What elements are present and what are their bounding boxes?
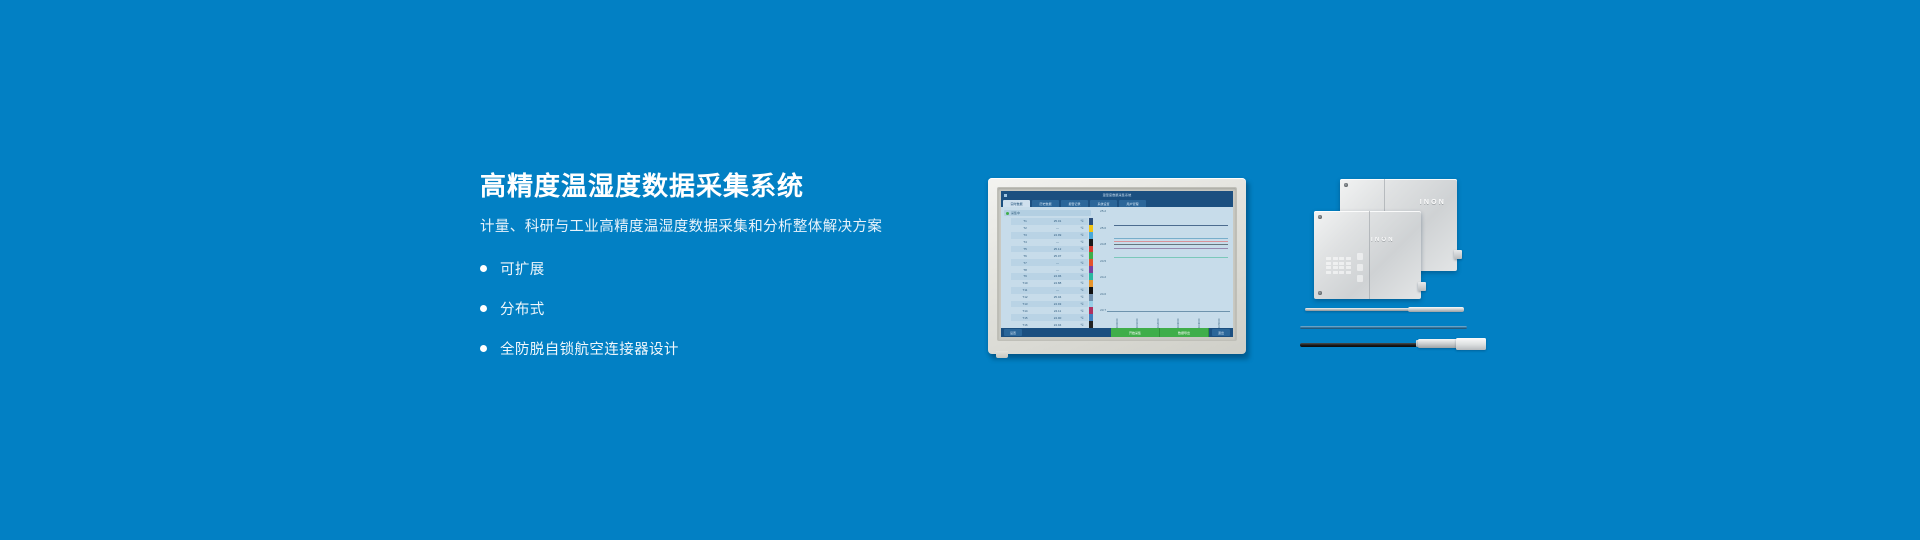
channel-unit: ℃ (1076, 323, 1088, 327)
table-row[interactable]: T924.96℃ (1011, 273, 1088, 280)
blue-sensor-cable (1300, 326, 1467, 329)
channel-unit: ℃ (1076, 254, 1088, 258)
chart-series-line (1114, 238, 1227, 239)
y-tick-label: 24.5 (1095, 259, 1106, 263)
channel-panel: 采集中 T125.01℃T2---℃T324.99℃T4---℃T525.12℃… (1001, 207, 1093, 328)
enclosure-seam (1369, 211, 1370, 299)
channel-unit: ℃ (1076, 274, 1088, 278)
channel-name: T1 (1011, 219, 1039, 223)
channel-name: T16 (1011, 323, 1039, 327)
channel-unit: ℃ (1076, 309, 1088, 313)
channel-name: T5 (1011, 247, 1039, 251)
monitor-bezel: 温湿度数据采集系统 实时数据 历史数据 报警记录 系统设置 用户管理 (988, 178, 1246, 354)
channel-value: --- (1039, 288, 1076, 292)
channel-value: 24.88 (1039, 281, 1076, 285)
x-tick-label: 10:40:00 (1198, 313, 1201, 328)
channel-name: T8 (1011, 268, 1039, 272)
channel-value: 25.07 (1039, 254, 1076, 258)
table-row[interactable]: T324.99℃ (1011, 232, 1088, 239)
settings-button[interactable]: 设置 (1004, 329, 1022, 336)
list-item: 全防脱自锁航空连接器设计 (480, 338, 950, 359)
channel-value: 24.90 (1039, 316, 1076, 320)
bullet-dot-icon (480, 305, 487, 312)
channel-unit: ℃ (1076, 240, 1088, 244)
y-tick-label: 24.0 (1095, 292, 1106, 296)
channel-name: T11 (1011, 288, 1039, 292)
table-row[interactable]: T11---℃ (1011, 287, 1088, 294)
channel-value: 25.04 (1039, 295, 1076, 299)
table-row[interactable]: T1324.93℃ (1011, 301, 1088, 308)
status-badge: 采集中 (1004, 210, 1091, 216)
monitor-device: 温湿度数据采集系统 实时数据 历史数据 报警记录 系统设置 用户管理 (988, 178, 1250, 360)
monitor-inner-frame: 温湿度数据采集系统 实时数据 历史数据 报警记录 系统设置 用户管理 (997, 187, 1237, 341)
feature-label: 分布式 (500, 298, 545, 319)
probe-tip (1408, 307, 1464, 312)
application-screen: 温湿度数据采集系统 实时数据 历史数据 报警记录 系统设置 用户管理 (1001, 191, 1233, 337)
channel-unit: ℃ (1076, 281, 1088, 285)
channel-value: 24.94 (1039, 323, 1076, 327)
page-subtitle: 计量、科研与工业高精度温湿度数据采集和分析整体解决方案 (480, 219, 950, 236)
humidity-sensor-filter-cap (1456, 338, 1486, 350)
channel-value: 24.11 (1039, 309, 1076, 313)
table-row[interactable]: T525.12℃ (1011, 246, 1088, 253)
channel-name: T9 (1011, 274, 1039, 278)
black-sensor-cable (1300, 343, 1420, 347)
channel-unit: ℃ (1076, 226, 1088, 230)
tab-history[interactable]: 历史数据 (1032, 200, 1059, 207)
exit-button[interactable]: 退出 (1212, 329, 1230, 336)
table-row[interactable]: T625.07℃ (1011, 252, 1088, 259)
channel-name: T10 (1011, 281, 1039, 285)
x-tick-label: 10:50:00 (1218, 313, 1221, 328)
humidity-sensor-body (1418, 339, 1460, 348)
channel-value: 24.99 (1039, 233, 1076, 237)
list-item: 可扩展 (480, 258, 950, 279)
app-titlebar: 温湿度数据采集系统 (1001, 191, 1233, 199)
screw-icon (1318, 215, 1322, 219)
tab-bar: 实时数据 历史数据 报警记录 系统设置 用户管理 (1001, 199, 1233, 207)
chart-series-line (1114, 225, 1227, 226)
x-tick-label: 10:20:00 (1157, 313, 1160, 328)
y-tick-label: 24.2 (1095, 275, 1106, 279)
channel-name: T2 (1011, 226, 1039, 230)
status-label: 采集中 (1011, 211, 1020, 215)
copy-block: 高精度温湿度数据采集系统 计量、科研与工业高精度温湿度数据采集和分析整体解决方案… (480, 172, 950, 378)
channel-unit: ℃ (1076, 288, 1088, 292)
export-data-button[interactable]: 数据导出 (1160, 328, 1209, 337)
channel-name: T15 (1011, 316, 1039, 320)
table-row[interactable]: T1624.94℃ (1011, 321, 1088, 328)
y-tick-label: 23.7 (1095, 308, 1106, 312)
indicator-icons (1357, 253, 1363, 282)
list-item: 分布式 (480, 298, 950, 319)
channel-unit: ℃ (1076, 247, 1088, 251)
brand-logo: INON (1371, 237, 1395, 243)
feature-label: 全防脱自锁航空连接器设计 (500, 338, 679, 359)
channel-name: T3 (1011, 233, 1039, 237)
channel-value: --- (1039, 261, 1076, 265)
connector-port (1418, 282, 1426, 291)
channel-unit: ℃ (1076, 219, 1088, 223)
channel-table-rows: T125.01℃T2---℃T324.99℃T4---℃T525.12℃T625… (1001, 218, 1088, 328)
brand-logo: INON (1420, 199, 1446, 206)
y-tick-label: 24.8 (1095, 242, 1106, 246)
feature-label: 可扩展 (500, 258, 545, 279)
bullet-dot-icon (480, 265, 487, 272)
channel-unit: ℃ (1076, 295, 1088, 299)
chart-y-axis: 25.225.024.824.524.224.023.7 (1095, 209, 1106, 312)
channel-unit: ℃ (1076, 316, 1088, 320)
table-row[interactable]: T8---℃ (1011, 266, 1088, 273)
channel-unit: ℃ (1076, 233, 1088, 237)
channel-name: T6 (1011, 254, 1039, 258)
table-row[interactable]: T1225.04℃ (1011, 294, 1088, 301)
chart-series-line (1114, 248, 1227, 249)
table-row[interactable]: T7---℃ (1011, 259, 1088, 266)
app-title: 温湿度数据采集系统 (1001, 191, 1233, 199)
product-banner: 高精度温湿度数据采集系统 计量、科研与工业高精度温湿度数据采集和分析整体解决方案… (0, 0, 1920, 540)
channel-table: T125.01℃T2---℃T324.99℃T4---℃T525.12℃T625… (1001, 218, 1093, 328)
table-row[interactable]: T1524.90℃ (1011, 314, 1088, 321)
start-acquisition-button[interactable]: 开始采集 (1111, 328, 1160, 337)
hardware-group: INON INON (1300, 175, 1500, 360)
channel-value: --- (1039, 240, 1076, 244)
channel-unit: ℃ (1076, 302, 1088, 306)
y-tick-label: 25.0 (1095, 226, 1106, 230)
chart-x-axis: 10:00:0010:10:0010:20:0010:30:0010:40:00… (1107, 313, 1230, 328)
table-row[interactable]: T2---℃ (1011, 225, 1088, 232)
table-row[interactable]: T1424.11℃ (1011, 307, 1088, 314)
channel-value: --- (1039, 226, 1076, 230)
channel-name: T13 (1011, 302, 1039, 306)
app-footer: 设置 开始采集 数据导出 退出 (1001, 328, 1233, 337)
table-row[interactable]: T125.01℃ (1011, 218, 1088, 225)
channel-name: T4 (1011, 240, 1039, 244)
tab-users[interactable]: 用户管理 (1119, 200, 1146, 207)
table-row[interactable]: T1024.88℃ (1011, 280, 1088, 287)
front-enclosure: INON (1314, 211, 1421, 299)
channel-value: 25.01 (1039, 219, 1076, 223)
channel-value: 24.96 (1039, 274, 1076, 278)
feature-list: 可扩展 分布式 全防脱自锁航空连接器设计 (480, 258, 950, 359)
channel-value: 25.12 (1039, 247, 1076, 251)
channel-unit: ℃ (1076, 261, 1088, 265)
chart-series-line (1114, 257, 1227, 258)
page-title: 高精度温湿度数据采集系统 (480, 172, 950, 201)
chart-series-line (1114, 244, 1227, 245)
bullet-dot-icon (480, 345, 487, 352)
chart-series-line (1114, 241, 1227, 242)
label-plate (1326, 257, 1351, 274)
tab-realtime[interactable]: 实时数据 (1003, 200, 1030, 207)
trend-chart: 25.225.024.824.524.224.023.7 10:00:0010:… (1093, 207, 1233, 328)
channel-name: T14 (1011, 309, 1039, 313)
monitor-stand (996, 351, 1008, 358)
status-led-icon (1006, 212, 1009, 215)
table-row[interactable]: T4---℃ (1011, 239, 1088, 246)
channel-unit: ℃ (1076, 268, 1088, 272)
channel-name: T7 (1011, 261, 1039, 265)
app-body: 采集中 T125.01℃T2---℃T324.99℃T4---℃T525.12℃… (1001, 207, 1233, 328)
screw-icon (1344, 183, 1348, 187)
channel-value: 24.93 (1039, 302, 1076, 306)
x-tick-label: 10:10:00 (1136, 313, 1139, 328)
channel-name: T12 (1011, 295, 1039, 299)
x-tick-label: 10:30:00 (1177, 313, 1180, 328)
channel-value: --- (1039, 268, 1076, 272)
chart-plot-area (1107, 209, 1230, 312)
y-tick-label: 25.2 (1095, 209, 1106, 213)
connector-port (1454, 250, 1462, 259)
x-tick-label: 10:00:00 (1116, 313, 1119, 328)
tab-alarms[interactable]: 报警记录 (1061, 200, 1088, 207)
screw-icon (1318, 291, 1322, 295)
tab-settings[interactable]: 系统设置 (1090, 200, 1117, 207)
